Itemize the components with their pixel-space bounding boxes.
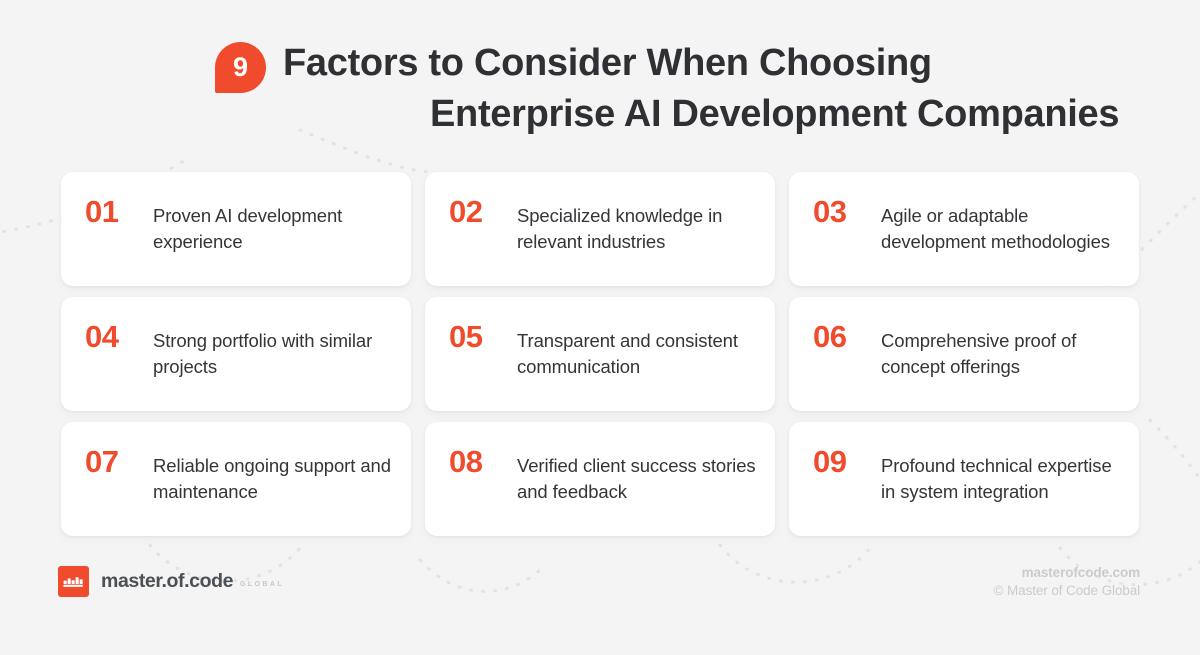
copyright-text: © Master of Code Global (994, 583, 1140, 598)
brand-sub-label: GLOBAL (240, 581, 284, 588)
footer: master.of.code GLOBAL masterofcode.com ©… (0, 565, 1200, 598)
factor-card: 02 Specialized knowledge in relevant ind… (425, 172, 775, 286)
factor-number: 04 (85, 321, 153, 352)
website-url[interactable]: masterofcode.com (994, 565, 1140, 580)
factor-number: 07 (85, 446, 153, 477)
factor-text: Profound technical expertise in system i… (881, 453, 1121, 505)
factor-text: Reliable ongoing support and maintenance (153, 453, 393, 505)
factor-text: Verified client success stories and feed… (517, 453, 757, 505)
brand-logo[interactable]: master.of.code GLOBAL (58, 566, 284, 597)
factor-number: 06 (813, 321, 881, 352)
factor-card: 07 Reliable ongoing support and maintena… (61, 422, 411, 536)
header: 9 Factors to Consider When Choosing Ente… (0, 0, 1200, 141)
factor-text: Comprehensive proof of concept offerings (881, 328, 1121, 380)
page-title-line-1: Factors to Consider When Choosing (283, 38, 932, 90)
brand-wordmark: master.of.code (101, 570, 233, 593)
factor-text: Agile or adaptable development methodolo… (881, 203, 1121, 255)
factor-text: Transparent and consistent communication (517, 328, 757, 380)
factors-grid: 01 Proven AI development experience 02 S… (61, 172, 1139, 536)
factor-card: 05 Transparent and consistent communicat… (425, 297, 775, 411)
factor-number: 03 (813, 196, 881, 227)
header-first-line: 9 Factors to Consider When Choosing (215, 38, 1140, 93)
factor-number: 05 (449, 321, 517, 352)
factor-text: Proven AI development experience (153, 203, 393, 255)
count-badge: 9 (215, 42, 266, 93)
factor-number: 02 (449, 196, 517, 227)
factor-number: 09 (813, 446, 881, 477)
factor-card: 09 Profound technical expertise in syste… (789, 422, 1139, 536)
infographic-page: 9 Factors to Consider When Choosing Ente… (0, 0, 1200, 655)
footer-credits: masterofcode.com © Master of Code Global (994, 565, 1140, 598)
page-title-line-2: Enterprise AI Development Companies (215, 89, 1140, 141)
factor-card: 01 Proven AI development experience (61, 172, 411, 286)
factor-text: Strong portfolio with similar projects (153, 328, 393, 380)
factor-card: 03 Agile or adaptable development method… (789, 172, 1139, 286)
factor-number: 01 (85, 196, 153, 227)
factor-card: 06 Comprehensive proof of concept offeri… (789, 297, 1139, 411)
factor-card: 04 Strong portfolio with similar project… (61, 297, 411, 411)
factor-card: 08 Verified client success stories and f… (425, 422, 775, 536)
factor-number: 08 (449, 446, 517, 477)
factor-text: Specialized knowledge in relevant indust… (517, 203, 757, 255)
master-of-code-mark-icon (58, 566, 89, 597)
